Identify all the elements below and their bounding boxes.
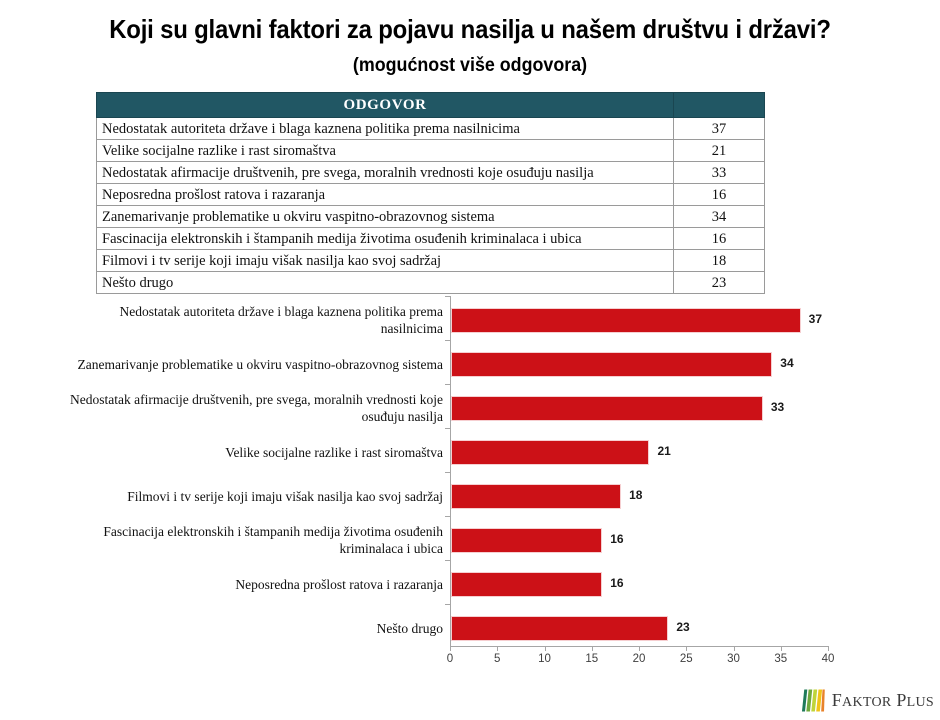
- table-cell-answer: Velike socijalne razlike i rast siromašt…: [97, 140, 674, 162]
- table-header-value: [674, 93, 765, 118]
- table-cell-answer: Nedostatak afirmacije društvenih, pre sv…: [97, 162, 674, 184]
- logo-word1-initial: F: [832, 690, 842, 710]
- chart-row: Fascinacija elektronskih i štampanih med…: [0, 518, 940, 562]
- answers-table: ODGOVOR Nedostatak autoriteta države i b…: [96, 92, 765, 294]
- table-header-answer: ODGOVOR: [97, 93, 674, 118]
- x-axis-tick-label: 30: [719, 653, 749, 665]
- x-axis-tick-label: 20: [624, 653, 654, 665]
- x-axis-tick: [497, 646, 498, 651]
- x-axis-tick-label: 10: [530, 653, 560, 665]
- chart-category-label-line: Neposredna prošlost ratova i razaranja: [235, 576, 443, 593]
- chart-row: Nedostatak autoriteta države i blaga kaz…: [0, 298, 940, 342]
- chart-category-label: Nedostatak autoriteta države i blaga kaz…: [13, 298, 443, 342]
- table-cell-answer: Nešto drugo: [97, 272, 674, 294]
- table-row: Zanemarivanje problematike u okviru vasp…: [97, 206, 765, 228]
- chart-bar-value-label: 34: [780, 356, 793, 370]
- y-axis-tick: [445, 428, 450, 429]
- x-axis-tick-label: 5: [482, 653, 512, 665]
- chart-category-label-line: Filmovi i tv serije koji imaju višak nas…: [127, 488, 443, 505]
- table-row: Nedostatak afirmacije društvenih, pre sv…: [97, 162, 765, 184]
- chart-bar-value-label: 23: [676, 620, 689, 634]
- chart-category-label: Fascinacija elektronskih i štampanih med…: [13, 518, 443, 562]
- chart-row: Velike socijalne razlike i rast siromašt…: [0, 430, 940, 474]
- table-header: ODGOVOR: [97, 93, 765, 118]
- x-axis-tick-label: 15: [577, 653, 607, 665]
- x-axis-tick: [781, 646, 782, 651]
- y-axis-line: [450, 296, 451, 646]
- table-row: Fascinacija elektronskih i štampanih med…: [97, 228, 765, 250]
- chart-category-label-line: Nedostatak autoriteta države i blaga kaz…: [120, 303, 443, 320]
- y-axis-tick: [445, 296, 450, 297]
- table-row: Velike socijalne razlike i rast siromašt…: [97, 140, 765, 162]
- chart-bar[interactable]: [451, 440, 649, 465]
- y-axis-tick: [445, 604, 450, 605]
- logo-mark-icon: [801, 688, 826, 713]
- chart-category-label: Filmovi i tv serije koji imaju višak nas…: [13, 474, 443, 518]
- chart-category-label-line: osuđuju nasilja: [362, 408, 443, 425]
- table-row: Filmovi i tv serije koji imaju višak nas…: [97, 250, 765, 272]
- x-axis-tick-label: 35: [766, 653, 796, 665]
- chart-bar[interactable]: [451, 572, 602, 597]
- table-cell-value: 33: [674, 162, 765, 184]
- y-axis-tick: [445, 472, 450, 473]
- chart-row: Filmovi i tv serije koji imaju višak nas…: [0, 474, 940, 518]
- table-cell-value: 16: [674, 228, 765, 250]
- chart-bar-value-label: 21: [657, 444, 670, 458]
- page-subtitle: (mogućnost više odgovora): [28, 55, 912, 77]
- table-cell-value: 23: [674, 272, 765, 294]
- chart-category-label-line: kriminalaca i ubica: [340, 540, 443, 557]
- chart-row: Nešto drugo23: [0, 606, 940, 650]
- table-cell-value: 16: [674, 184, 765, 206]
- chart-category-label-line: Zanemarivanje problematike u okviru vasp…: [77, 356, 443, 373]
- x-axis-tick: [639, 646, 640, 651]
- chart-row: Nedostatak afirmacije društvenih, pre sv…: [0, 386, 940, 430]
- chart-category-label: Nedostatak afirmacije društvenih, pre sv…: [13, 386, 443, 430]
- x-axis-tick-label: 0: [435, 653, 465, 665]
- table-header-row: ODGOVOR: [97, 93, 765, 118]
- table-row: Neposredna prošlost ratova i razaranja16: [97, 184, 765, 206]
- table-cell-answer: Zanemarivanje problematike u okviru vasp…: [97, 206, 674, 228]
- x-axis-tick: [828, 646, 829, 651]
- table-cell-value: 34: [674, 206, 765, 228]
- table-row: Nedostatak autoriteta države i blaga kaz…: [97, 118, 765, 140]
- chart-bar-value-label: 33: [771, 400, 784, 414]
- chart-rows: Nedostatak autoriteta države i blaga kaz…: [0, 294, 940, 646]
- table-cell-answer: Fascinacija elektronskih i štampanih med…: [97, 228, 674, 250]
- chart-bar[interactable]: [451, 396, 763, 421]
- chart-bar-value-label: 18: [629, 488, 642, 502]
- table-cell-value: 21: [674, 140, 765, 162]
- chart-bar[interactable]: [451, 616, 668, 641]
- chart-category-label-line: Velike socijalne razlike i rast siromašt…: [225, 444, 443, 461]
- logo-word2-initial: P: [896, 690, 906, 710]
- y-axis-tick: [445, 340, 450, 341]
- chart-bar-value-label: 16: [610, 576, 623, 590]
- table-cell-answer: Nedostatak autoriteta države i blaga kaz…: [97, 118, 674, 140]
- table-cell-answer: Neposredna prošlost ratova i razaranja: [97, 184, 674, 206]
- x-axis-tick: [450, 646, 451, 651]
- chart-row: Neposredna prošlost ratova i razaranja16: [0, 562, 940, 606]
- table-cell-answer: Filmovi i tv serije koji imaju višak nas…: [97, 250, 674, 272]
- y-axis-tick: [445, 560, 450, 561]
- table-row: Nešto drugo23: [97, 272, 765, 294]
- y-axis-tick: [445, 516, 450, 517]
- chart-bar-value-label: 37: [809, 312, 822, 326]
- x-axis-tick: [545, 646, 546, 651]
- faktor-plus-logo: FAKTOR PLUS: [801, 686, 934, 714]
- x-axis-tick-label: 25: [671, 653, 701, 665]
- chart-category-label-line: Nedostatak afirmacije društvenih, pre sv…: [70, 391, 443, 408]
- logo-text: FAKTOR PLUS: [832, 690, 934, 711]
- logo-word1-rest: AKTOR: [842, 695, 891, 710]
- chart-bar[interactable]: [451, 352, 772, 377]
- x-axis-tick-label: 40: [813, 653, 843, 665]
- chart-category-label-line: Fascinacija elektronskih i štampanih med…: [103, 523, 443, 540]
- table-cell-value: 18: [674, 250, 765, 272]
- bar-chart: Nedostatak autoriteta države i blaga kaz…: [0, 294, 940, 684]
- x-axis-tick: [734, 646, 735, 651]
- x-axis-tick: [592, 646, 593, 651]
- chart-bar[interactable]: [451, 308, 801, 333]
- chart-category-label-line: nasilnicima: [381, 320, 443, 337]
- chart-category-label: Zanemarivanje problematike u okviru vasp…: [13, 342, 443, 386]
- chart-category-label: Velike socijalne razlike i rast siromašt…: [13, 430, 443, 474]
- chart-bar[interactable]: [451, 484, 621, 509]
- chart-bar-value-label: 16: [610, 532, 623, 546]
- chart-row: Zanemarivanje problematike u okviru vasp…: [0, 342, 940, 386]
- x-axis-tick: [686, 646, 687, 651]
- chart-category-label: Nešto drugo: [13, 606, 443, 650]
- chart-category-label-line: Nešto drugo: [377, 620, 443, 637]
- chart-category-label: Neposredna prošlost ratova i razaranja: [13, 562, 443, 606]
- table-cell-value: 37: [674, 118, 765, 140]
- chart-bar[interactable]: [451, 528, 602, 553]
- logo-word2-rest: LUS: [907, 695, 934, 710]
- y-axis-tick: [445, 384, 450, 385]
- table-body: Nedostatak autoriteta države i blaga kaz…: [97, 118, 765, 294]
- page-title: Koji su glavni faktori za pojavu nasilja…: [38, 14, 903, 45]
